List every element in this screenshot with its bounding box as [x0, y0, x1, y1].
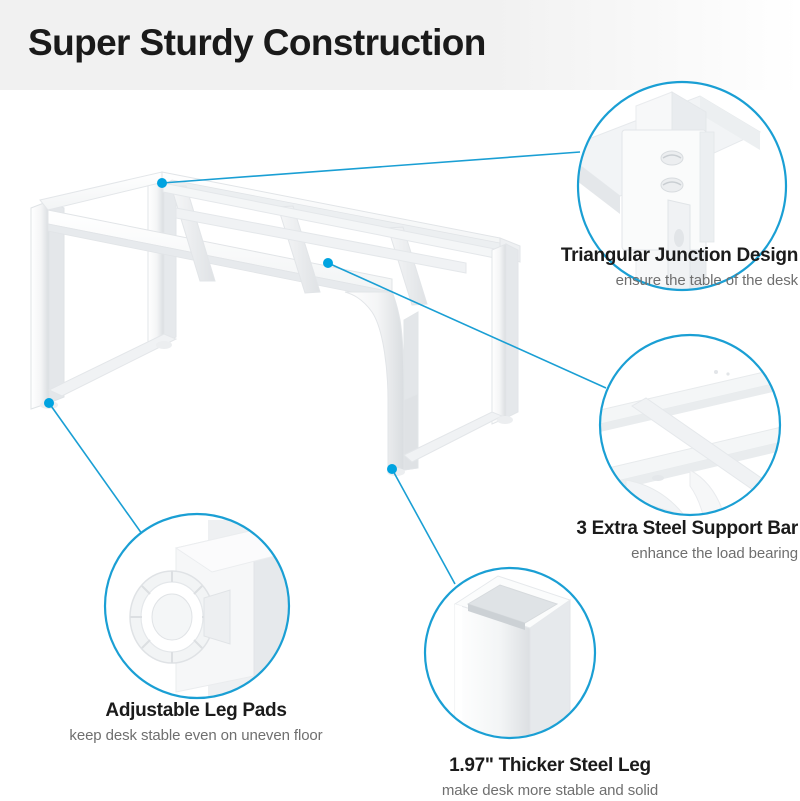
- callout-junction: Triangular Junction Design ensure the ta…: [561, 245, 798, 291]
- connector-leg: [392, 469, 455, 584]
- frame-leg-front-right: [345, 292, 418, 470]
- foot-cap-far-right: [497, 416, 513, 424]
- callout-support-title: 3 Extra Steel Support Bar: [576, 518, 798, 540]
- detail-circle-pads: [104, 513, 290, 700]
- callout-junction-subtitle: ensure the table of the desk: [561, 270, 798, 291]
- foot-cap-back-right: [156, 341, 172, 349]
- frame-leg-far-right: [492, 244, 518, 424]
- frame-rail-front-long-shade: [48, 224, 392, 300]
- desk-frame-drawing: [31, 172, 520, 476]
- callout-leg-subtitle: make desk more stable and solid: [300, 780, 800, 801]
- anchor-dot-support: [323, 258, 333, 268]
- connector-junction: [162, 152, 580, 183]
- callout-support: 3 Extra Steel Support Bar enhance the lo…: [576, 518, 798, 564]
- callout-support-subtitle: enhance the load bearing: [576, 543, 798, 564]
- callout-pads: Adjustable Leg Pads keep desk stable eve…: [0, 700, 392, 746]
- callout-pads-subtitle: keep desk stable even on uneven floor: [0, 725, 392, 746]
- connector-pads: [49, 403, 152, 548]
- anchor-dot-junction: [157, 178, 167, 188]
- detail-circle-support: [600, 335, 790, 545]
- anchor-dot-leg: [387, 464, 397, 474]
- frame-rail-bottom-right: [404, 412, 502, 462]
- callout-junction-title: Triangular Junction Design: [561, 245, 798, 267]
- frame-leg-back-right: [148, 175, 176, 347]
- callout-leg-title: 1.97" Thicker Steel Leg: [300, 755, 800, 777]
- product-illustration: [0, 0, 800, 800]
- detail-circle-leg: [424, 567, 596, 760]
- infographic-canvas: Super Sturdy Construction: [0, 0, 800, 800]
- anchor-dot-pads: [44, 398, 54, 408]
- callout-pads-title: Adjustable Leg Pads: [0, 700, 392, 722]
- callout-leg: 1.97" Thicker Steel Leg make desk more s…: [300, 755, 800, 801]
